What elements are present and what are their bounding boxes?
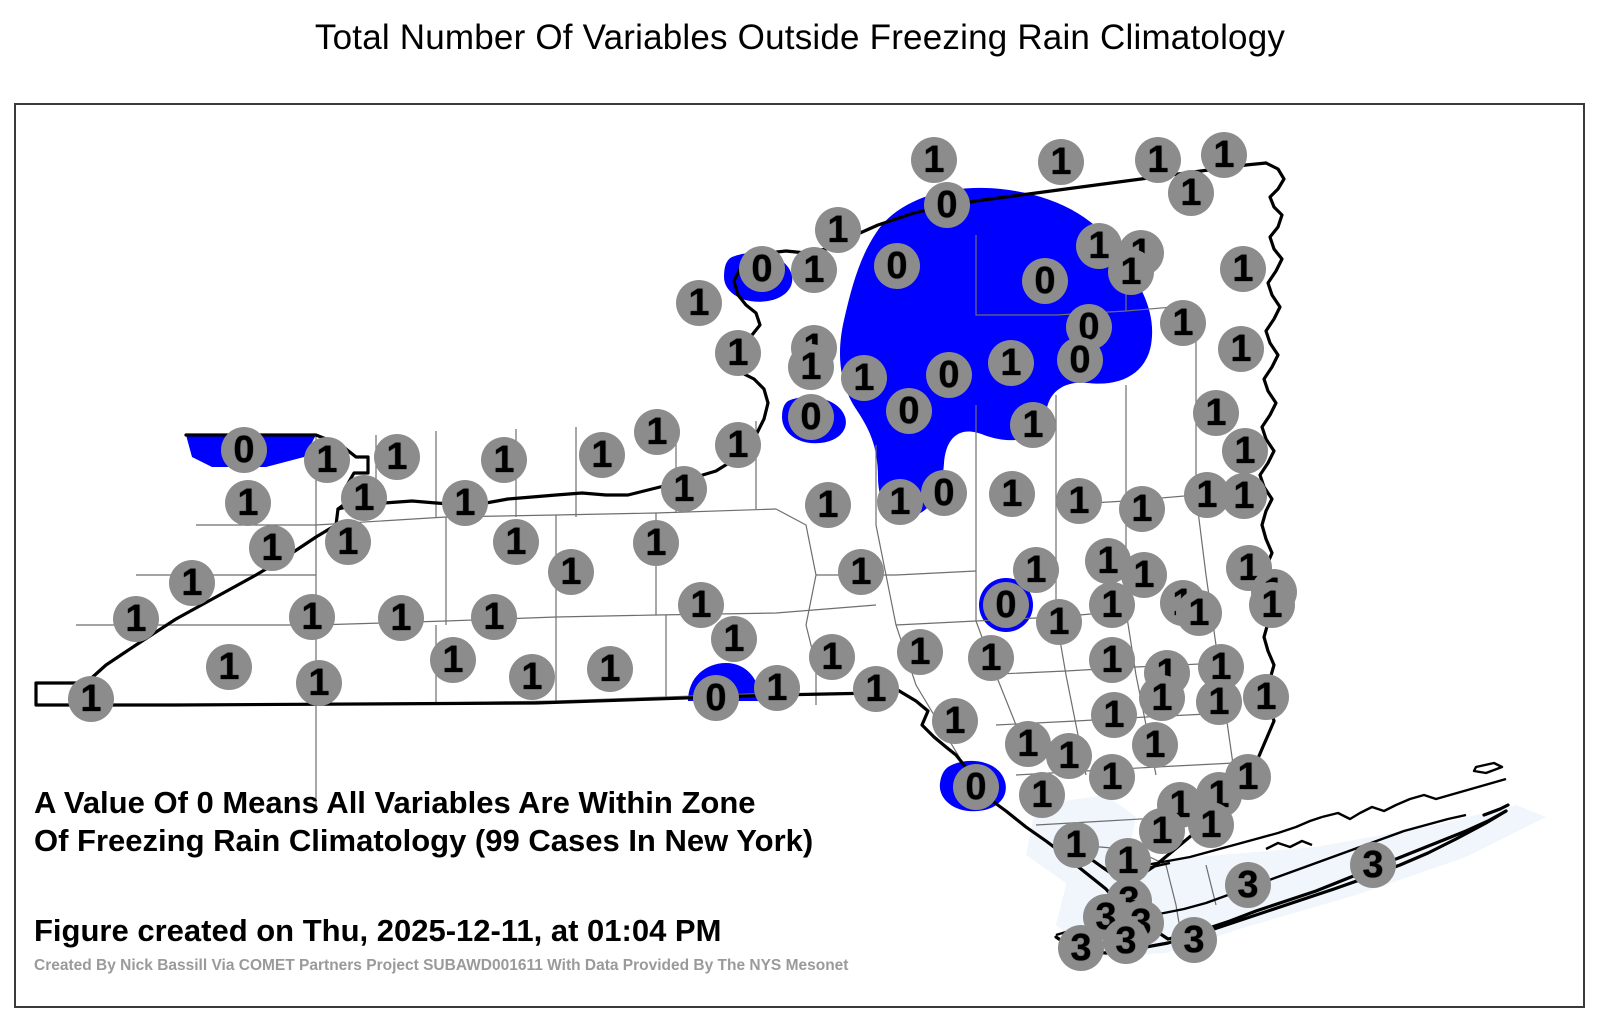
- station-marker: 1: [1176, 590, 1222, 636]
- station-marker: 1: [633, 520, 679, 566]
- credit-line: Created By Nick Bassill Via COMET Partne…: [34, 957, 848, 975]
- station-marker: 1: [1221, 473, 1267, 519]
- station-marker: 0: [924, 182, 970, 228]
- station-marker: 1: [897, 629, 943, 675]
- station-marker: 0: [788, 394, 834, 440]
- station-marker: 1: [325, 519, 371, 565]
- station-marker: 1: [587, 646, 633, 692]
- station-marker: 1: [1196, 679, 1242, 725]
- station-marker: 1: [225, 480, 271, 526]
- station-marker: 3: [1058, 925, 1104, 971]
- station-marker: 1: [676, 280, 722, 326]
- figure-root: Total Number Of Variables Outside Freezi…: [0, 0, 1600, 1020]
- station-marker: 1: [1108, 249, 1154, 295]
- station-marker: 1: [754, 665, 800, 711]
- station-marker: 1: [1005, 721, 1051, 767]
- station-marker: 1: [1091, 692, 1137, 738]
- station-marker: 0: [953, 764, 999, 810]
- station-marker: 1: [509, 654, 555, 700]
- station-marker: 1: [442, 480, 488, 526]
- station-marker: 1: [1220, 246, 1266, 292]
- station-marker: 1: [661, 466, 707, 512]
- station-marker: 1: [113, 596, 159, 642]
- station-marker: 1: [1036, 599, 1082, 645]
- station-marker: 1: [374, 434, 420, 480]
- station-marker: 1: [1046, 733, 1092, 779]
- station-marker: 1: [289, 594, 335, 640]
- station-marker: 3: [1171, 917, 1217, 963]
- station-marker: 1: [715, 330, 761, 376]
- station-marker: 1: [1243, 674, 1289, 720]
- station-marker: 1: [169, 560, 215, 606]
- station-marker: 1: [989, 471, 1035, 517]
- station-marker: 1: [1222, 428, 1268, 474]
- station-marker: 1: [1019, 772, 1065, 818]
- station-marker: 1: [1193, 390, 1239, 436]
- station-marker: 1: [634, 409, 680, 455]
- station-marker: 1: [932, 698, 978, 744]
- station-marker: 1: [788, 344, 834, 390]
- station-marker: 1: [1010, 402, 1056, 448]
- station-marker: 1: [304, 437, 350, 483]
- station-marker: 1: [1132, 722, 1178, 768]
- station-marker: 1: [1160, 300, 1206, 346]
- station-marker: 1: [791, 247, 837, 293]
- station-marker: 1: [341, 475, 387, 521]
- station-marker: 1: [1218, 326, 1264, 372]
- station-marker: 3: [1103, 918, 1149, 964]
- station-marker: 0: [693, 675, 739, 721]
- station-marker: 0: [983, 582, 1029, 628]
- station-marker: 1: [1038, 139, 1084, 185]
- station-marker: 1: [853, 666, 899, 712]
- station-marker: 1: [471, 594, 517, 640]
- annotation-line-2: Of Freezing Rain Climatology (99 Cases I…: [34, 823, 813, 859]
- station-marker: 0: [1022, 258, 1068, 304]
- page-title: Total Number Of Variables Outside Freezi…: [0, 18, 1600, 58]
- station-marker: 1: [548, 549, 594, 595]
- station-marker: 1: [249, 525, 295, 571]
- station-marker: 1: [481, 437, 527, 483]
- station-marker: 1: [911, 137, 957, 183]
- station-marker: 3: [1350, 842, 1396, 888]
- station-marker: 1: [805, 482, 851, 528]
- station-marker: 1: [1089, 582, 1135, 628]
- station-marker: 0: [921, 470, 967, 516]
- map-stage: 1011111010101111011110101100111011111111…: [16, 105, 1583, 1006]
- station-marker: 1: [1139, 675, 1185, 721]
- station-marker: 0: [926, 352, 972, 398]
- station-marker: 1: [841, 355, 887, 401]
- station-marker: 1: [711, 616, 757, 662]
- station-marker: 1: [1201, 132, 1247, 178]
- station-marker: 1: [715, 422, 761, 468]
- station-marker: 1: [809, 634, 855, 680]
- figure-created-timestamp: Figure created on Thu, 2025-12-11, at 01…: [34, 913, 721, 949]
- station-marker: 1: [968, 635, 1014, 681]
- station-marker: 1: [1139, 808, 1185, 854]
- station-marker: 1: [838, 549, 884, 595]
- station-marker: 1: [678, 582, 724, 628]
- annotation-line-1: A Value Of 0 Means All Variables Are Wit…: [34, 785, 756, 821]
- station-marker: 0: [874, 243, 920, 289]
- station-marker: 1: [1225, 754, 1271, 800]
- station-marker: 1: [1188, 802, 1234, 848]
- station-marker: 0: [1057, 337, 1103, 383]
- station-marker: 1: [296, 660, 342, 706]
- station-marker: 1: [877, 479, 923, 525]
- station-marker: 1: [206, 644, 252, 690]
- station-marker: 1: [1089, 754, 1135, 800]
- station-marker: 1: [68, 676, 114, 722]
- station-marker: 1: [430, 637, 476, 683]
- station-marker: 1: [378, 595, 424, 641]
- station-marker: 1: [988, 340, 1034, 386]
- station-marker: 1: [1056, 478, 1102, 524]
- station-marker: 1: [1119, 486, 1165, 532]
- station-marker: 3: [1225, 862, 1271, 908]
- station-marker: 0: [221, 427, 267, 473]
- station-marker: 1: [579, 432, 625, 478]
- station-marker: 1: [815, 207, 861, 253]
- station-marker: 1: [1168, 170, 1214, 216]
- station-marker: 1: [1089, 637, 1135, 683]
- station-marker: 0: [739, 246, 785, 292]
- station-marker: 1: [1053, 822, 1099, 868]
- station-marker: 1: [1249, 582, 1295, 628]
- station-marker: 0: [886, 388, 932, 434]
- station-marker: 1: [493, 519, 539, 565]
- map-frame: 1011111010101111011110101100111011111111…: [14, 103, 1585, 1008]
